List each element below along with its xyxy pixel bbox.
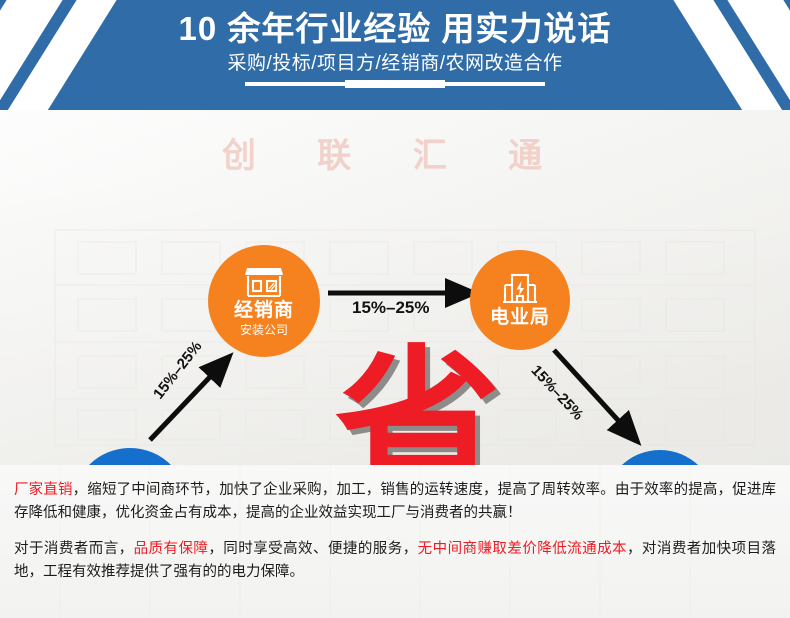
footer-highlight-no-middleman: 无中间商赚取差价降低流通成本 (418, 541, 627, 557)
center-highlight-character: 省 (335, 348, 501, 465)
power-building-icon (501, 272, 539, 306)
header-subtitle: 采购/投标/项目方/经销商/农网改造合作 (227, 51, 562, 77)
header-divider (245, 82, 545, 86)
node-dealer-subtitle: 安装公司 (240, 323, 288, 338)
footer-paragraph-1-rest: ，缩短了中间商环节，加快了企业采购，加工，销售的运转速度，提高了周转效率。由于效… (14, 482, 776, 521)
footer-paragraph-1: 厂家直销，缩短了中间商环节，加快了企业采购，加工，销售的运转速度，提高了周转效率… (14, 479, 776, 525)
header-title: 10 余年行业经验 用实力说话 (178, 8, 611, 50)
arrow-label-dealer-to-bureau: 15%–25% (352, 298, 430, 318)
flow-diagram: 创 联 汇 通 省 (0, 110, 790, 465)
node-dealer-title: 经销商 (234, 300, 294, 322)
storefront-icon (243, 265, 285, 299)
footer-highlight-quality-guarantee: 品质有保障 (134, 541, 209, 557)
node-power-bureau-title: 电业局 (490, 307, 550, 329)
footer-description: 厂家直销，缩短了中间商环节，加快了企业采购，加工，销售的运转速度，提高了周转效率… (0, 465, 790, 618)
header-content: 10 余年行业经验 用实力说话 采购/投标/项目方/经销商/农网改造合作 (0, 0, 790, 110)
footer-paragraph-2-mid: ，同时享受高效、便捷的服务， (208, 541, 417, 557)
node-dealer[interactable]: 经销商 安装公司 (208, 245, 320, 357)
node-power-bureau[interactable]: 电业局 (470, 250, 570, 350)
footer-highlight-manufacturer-direct: 厂家直销 (14, 482, 73, 498)
footer-paragraph-2-lead: 对于消费者而言， (14, 541, 134, 557)
footer-paragraph-2: 对于消费者而言，品质有保障，同时享受高效、便捷的服务，无中间商赚取差价降低流通成… (14, 538, 776, 584)
page-root: 10 余年行业经验 用实力说话 采购/投标/项目方/经销商/农网改造合作 (0, 0, 790, 618)
page-header: 10 余年行业经验 用实力说话 采购/投标/项目方/经销商/农网改造合作 (0, 0, 790, 110)
